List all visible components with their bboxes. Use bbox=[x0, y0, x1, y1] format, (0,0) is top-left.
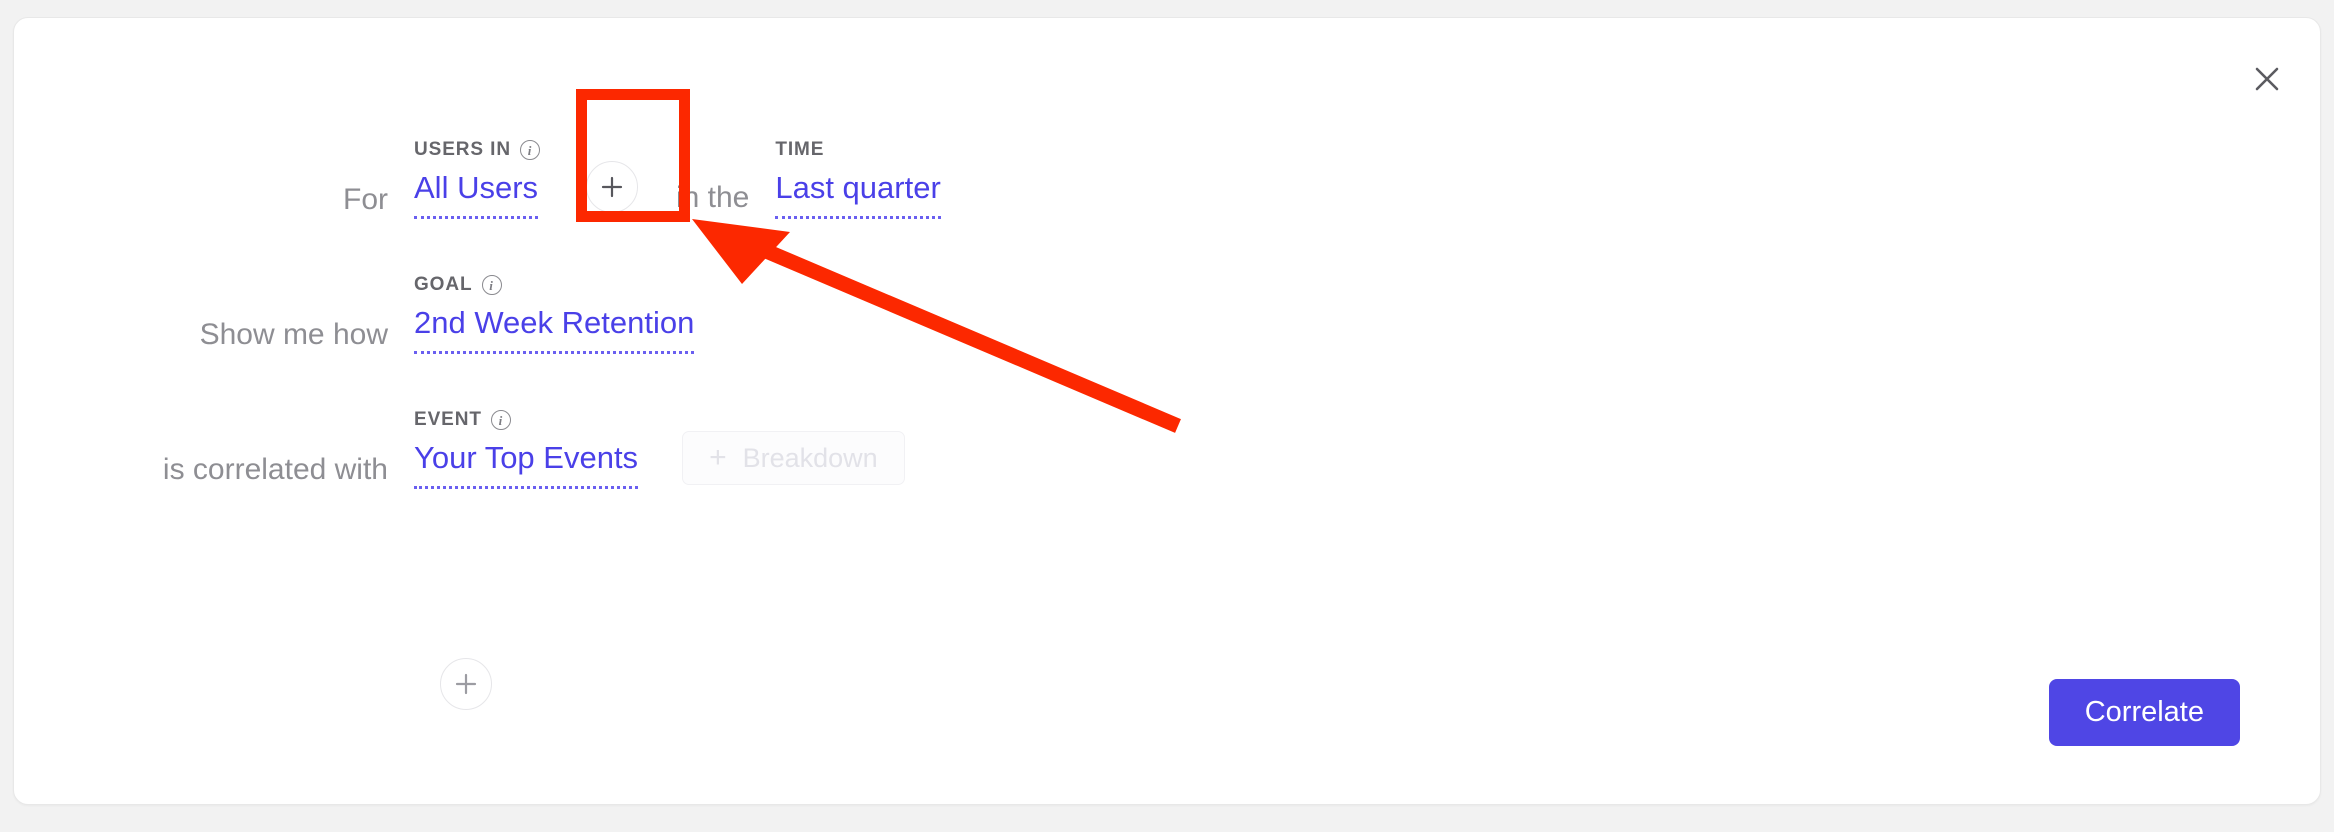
row-prefix-is-correlated-with: is correlated with bbox=[14, 455, 414, 507]
field-value-goal[interactable]: 2nd Week Retention bbox=[414, 305, 694, 354]
row-prefix-show-me-how: Show me how bbox=[14, 320, 414, 372]
query-row-users: For USERS IN i All Users in the TIME bbox=[14, 102, 2320, 237]
plus-icon: + bbox=[709, 443, 727, 473]
row-prefix-for: For bbox=[14, 185, 414, 237]
plus-icon bbox=[454, 672, 478, 696]
add-query-row-wrap bbox=[440, 658, 492, 710]
field-label-users-in: USERS IN i bbox=[414, 139, 540, 161]
field-label-event: EVENT i bbox=[414, 409, 638, 431]
field-users-in: USERS IN i All Users bbox=[414, 139, 540, 237]
add-breakdown-button[interactable]: + Breakdown bbox=[682, 431, 905, 485]
breakdown-button-label: Breakdown bbox=[743, 443, 878, 474]
close-dialog-button[interactable] bbox=[2244, 56, 2290, 102]
field-label-time-text: TIME bbox=[775, 139, 824, 161]
field-label-users-in-text: USERS IN bbox=[414, 139, 511, 161]
add-users-filter-button[interactable] bbox=[586, 161, 638, 213]
info-icon[interactable]: i bbox=[482, 275, 502, 295]
field-value-all-users[interactable]: All Users bbox=[414, 170, 538, 219]
info-icon[interactable]: i bbox=[520, 140, 540, 160]
row-suffix-in-the: in the bbox=[676, 181, 749, 237]
query-row-event: is correlated with EVENT i Your Top Even… bbox=[14, 372, 2320, 507]
correlate-button[interactable]: Correlate bbox=[2049, 679, 2240, 746]
field-label-goal-text: GOAL bbox=[414, 274, 473, 296]
correlation-query-card: For USERS IN i All Users in the TIME bbox=[13, 17, 2321, 805]
query-builder-rows: For USERS IN i All Users in the TIME bbox=[14, 102, 2320, 507]
plus-icon bbox=[600, 175, 624, 199]
close-icon bbox=[2254, 66, 2280, 92]
field-goal: GOAL i 2nd Week Retention bbox=[414, 274, 694, 372]
field-time: TIME Last quarter bbox=[775, 139, 940, 237]
field-label-time: TIME bbox=[775, 139, 940, 161]
query-row-goal: Show me how GOAL i 2nd Week Retention bbox=[14, 237, 2320, 372]
field-value-event[interactable]: Your Top Events bbox=[414, 440, 638, 489]
add-query-row-button[interactable] bbox=[440, 658, 492, 710]
field-event: EVENT i Your Top Events bbox=[414, 409, 638, 507]
field-label-goal: GOAL i bbox=[414, 274, 694, 296]
info-icon[interactable]: i bbox=[491, 410, 511, 430]
field-label-event-text: EVENT bbox=[414, 409, 482, 431]
field-value-last-quarter[interactable]: Last quarter bbox=[775, 170, 940, 219]
